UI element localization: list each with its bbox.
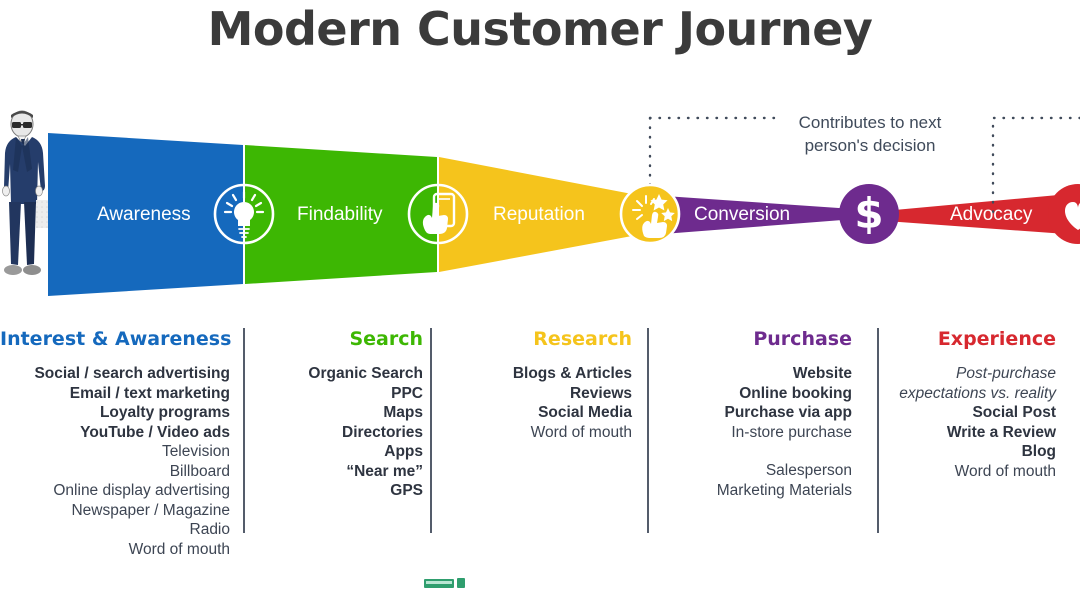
column-purchase: Purchase Website Online booking Purchase… [660, 328, 852, 500]
funnel-label-awareness: Awareness [97, 204, 191, 226]
column-item-list: Blogs & Articles Reviews Social Media Wo… [442, 364, 632, 442]
list-item: Social Post [888, 403, 1056, 423]
svg-text:$: $ [854, 189, 883, 238]
column-heading: Search [255, 328, 423, 350]
list-item: Apps [255, 442, 423, 462]
list-item: Online booking [660, 384, 852, 404]
column-heading: Research [442, 328, 632, 350]
column-heading: Interest & Awareness [0, 328, 230, 350]
list-item: YouTube / Video ads [0, 423, 230, 443]
list-item: GPS [255, 481, 423, 501]
list-item: Email / text marketing [0, 384, 230, 404]
heart-icon [1048, 184, 1080, 244]
list-item: Word of mouth [888, 462, 1056, 482]
callout-line-2: person's decision [760, 135, 980, 158]
column-item-list: Post-purchase expectations vs. reality S… [888, 364, 1056, 481]
column-divider-4 [877, 328, 879, 533]
funnel-label-conversion: Conversion [694, 204, 790, 226]
list-item: Write a Review [888, 423, 1056, 443]
funnel-label-advocacy: Advocacy [950, 204, 1032, 226]
list-item: Newspaper / Magazine [0, 501, 230, 521]
column-heading: Experience [888, 328, 1056, 350]
journey-touchpoint-columns: Interest & Awareness Social / search adv… [0, 328, 1080, 586]
column-heading: Purchase [660, 328, 852, 350]
list-item: expectations vs. reality [888, 384, 1056, 404]
list-item: PPC [255, 384, 423, 404]
list-item: Salesperson [660, 461, 852, 481]
column-search: Search Organic Search PPC Maps Directori… [255, 328, 423, 501]
funnel-label-findability: Findability [297, 204, 383, 226]
star-rating-icon [621, 185, 679, 243]
list-item: Website [660, 364, 852, 384]
callout-line-1: Contributes to next [760, 112, 980, 135]
list-item: Television [0, 442, 230, 462]
column-research: Research Blogs & Articles Reviews Social… [442, 328, 632, 442]
dollar-icon: $ [839, 184, 899, 244]
funnel-label-reputation: Reputation [493, 204, 585, 226]
list-item: Maps [255, 403, 423, 423]
column-interest-awareness: Interest & Awareness Social / search adv… [0, 328, 230, 559]
list-item: Word of mouth [0, 540, 230, 560]
list-item: In-store purchase [660, 423, 852, 443]
bottom-clipped-graphic [424, 575, 468, 589]
list-item: Loyalty programs [0, 403, 230, 423]
list-item: “Near me” [255, 462, 423, 482]
list-item: Social Media [442, 403, 632, 423]
list-item: Directories [255, 423, 423, 443]
list-item: Blog [888, 442, 1056, 462]
list-item: Billboard [0, 462, 230, 482]
column-experience: Experience Post-purchase expectations vs… [888, 328, 1056, 481]
list-item: Radio [0, 520, 230, 540]
column-item-list: Website Online booking Purchase via app … [660, 364, 852, 500]
list-item: Reviews [442, 384, 632, 404]
list-item-spacer [660, 442, 852, 461]
list-item: Post-purchase [888, 364, 1056, 384]
list-item: Social / search advertising [0, 364, 230, 384]
column-divider-1 [243, 328, 245, 533]
list-item: Purchase via app [660, 403, 852, 423]
list-item: Organic Search [255, 364, 423, 384]
list-item: Online display advertising [0, 481, 230, 501]
page-title: Modern Customer Journey [0, 2, 1080, 56]
column-divider-2 [430, 328, 432, 533]
column-item-list: Social / search advertising Email / text… [0, 364, 230, 559]
column-divider-3 [647, 328, 649, 533]
list-item: Marketing Materials [660, 481, 852, 501]
list-item: Blogs & Articles [442, 364, 632, 384]
feedback-callout-note: Contributes to next person's decision [760, 112, 980, 158]
list-item: Word of mouth [442, 423, 632, 443]
column-item-list: Organic Search PPC Maps Directories Apps… [255, 364, 423, 501]
